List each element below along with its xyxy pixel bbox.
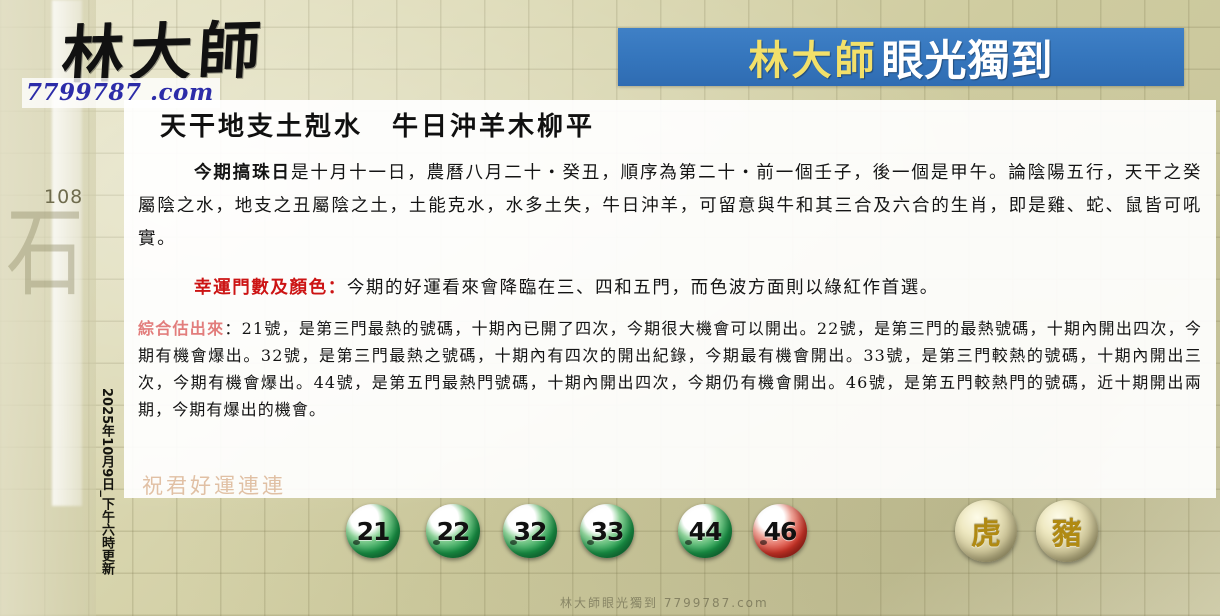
ball-number: 46 bbox=[764, 517, 797, 546]
lottery-ball[interactable]: 33 bbox=[580, 504, 634, 558]
page-root: 108 石 2025年10月9日_下午六時更新 林大師 7799787 .com… bbox=[0, 0, 1220, 616]
paragraph-lucky: 幸運門數及顏色：今期的好運看來會降臨在三、四和五門，而色波方面則以綠紅作首選。 bbox=[138, 272, 1202, 305]
paragraph-body: 是十月十一日，農曆八月二十・癸丑，順序為第二十・前一個壬子，後一個是甲午。論陰陽… bbox=[138, 163, 1202, 249]
lottery-ball[interactable]: 21 bbox=[346, 504, 400, 558]
ball-number: 44 bbox=[689, 517, 722, 546]
ball-shadow-dot bbox=[760, 540, 767, 545]
zodiac-glyph: 豬 bbox=[1052, 509, 1082, 553]
paragraph-summary: 綜合估出來：21號，是第三門最熱的號碼，十期內已開了四次，今期很大機會可以開出。… bbox=[138, 315, 1202, 423]
watermark-glyph-icon: 石 bbox=[6, 205, 84, 303]
banner-brand-text: 林大師 bbox=[748, 28, 877, 86]
lucky-heading: 幸運門數及顏色： bbox=[194, 278, 347, 298]
ball-number: 33 bbox=[591, 517, 624, 546]
ball-shadow-dot bbox=[433, 540, 440, 545]
paragraph-almanac: 今期搞珠日是十月十一日，農曆八月二十・癸丑，順序為第二十・前一個壬子，後一個是甲… bbox=[138, 157, 1202, 256]
lottery-ball-special[interactable]: 46 bbox=[753, 504, 807, 558]
headline-banner: 林大師 眼光獨到 bbox=[618, 28, 1184, 86]
paragraph-lead: 今期搞珠日 bbox=[194, 163, 291, 183]
page-title: 天干地支土剋水 牛日沖羊木柳平 bbox=[138, 112, 1202, 143]
lottery-ball[interactable]: 22 bbox=[426, 504, 480, 558]
ball-shadow-dot bbox=[587, 540, 594, 545]
summary-heading: 綜合估出來 bbox=[138, 319, 224, 338]
bottom-watermark: 林大師眼光獨到 7799787.com bbox=[560, 594, 769, 611]
lottery-ball[interactable]: 44 bbox=[678, 504, 732, 558]
ball-number: 32 bbox=[514, 517, 547, 546]
ball-number: 22 bbox=[437, 517, 470, 546]
zodiac-glyph: 虎 bbox=[971, 509, 1001, 553]
summary-body: ：21號，是第三門最熱的號碼，十期內已開了四次，今期很大機會可以開出。22號，是… bbox=[138, 319, 1202, 419]
lottery-ball[interactable]: 32 bbox=[503, 504, 557, 558]
banner-slogan-text: 眼光獨到 bbox=[881, 27, 1053, 88]
ball-shadow-dot bbox=[510, 540, 517, 545]
brand-logo: 林大師 bbox=[60, 19, 268, 86]
article-card: 天干地支土剋水 牛日沖羊木柳平 今期搞珠日是十月十一日，農曆八月二十・癸丑，順序… bbox=[124, 100, 1216, 498]
zodiac-ball-tiger[interactable]: 虎 bbox=[955, 500, 1017, 562]
lucky-body: 今期的好運看來會降臨在三、四和五門，而色波方面則以綠紅作首選。 bbox=[347, 278, 939, 298]
ball-number: 21 bbox=[357, 517, 390, 546]
footer-ghost-text: 祝君好運連連 bbox=[142, 470, 286, 500]
ball-shadow-dot bbox=[353, 540, 360, 545]
zodiac-ball-pig[interactable]: 豬 bbox=[1036, 500, 1098, 562]
ball-shadow-dot bbox=[685, 540, 692, 545]
